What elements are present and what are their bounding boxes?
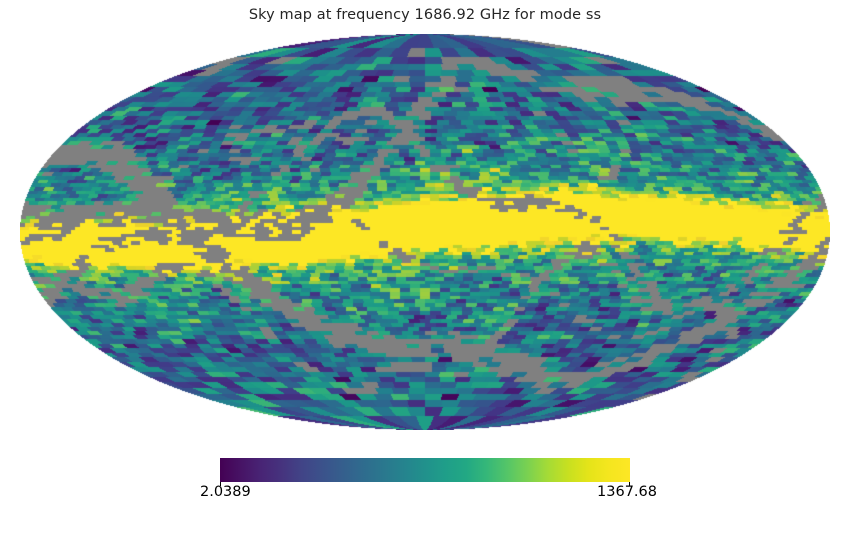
figure-canvas: Sky map at frequency 1686.92 GHz for mod… — [0, 0, 850, 540]
colorbar[interactable] — [220, 458, 630, 482]
sky-map-plot — [20, 34, 830, 430]
sky-map-healpix-image — [20, 34, 830, 430]
page-title: Sky map at frequency 1686.92 GHz for mod… — [0, 7, 850, 23]
colorbar-label-max: 1367.68 — [552, 484, 657, 500]
colorbar-gradient — [220, 458, 630, 482]
colorbar-label-min: 2.0389 — [200, 484, 251, 500]
